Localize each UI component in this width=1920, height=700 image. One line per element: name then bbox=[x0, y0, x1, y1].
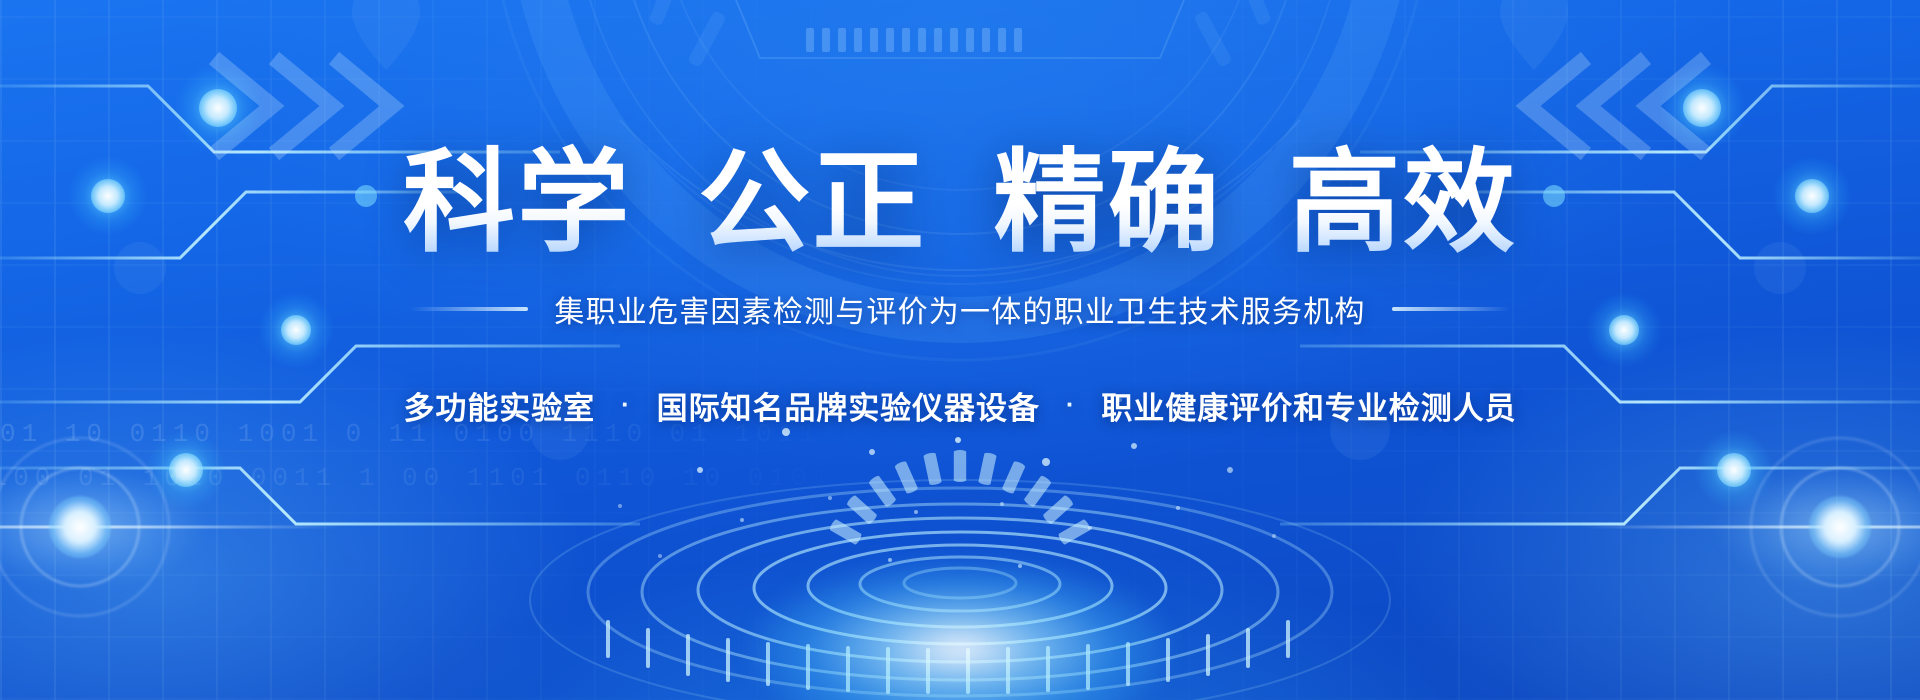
feature-tag-list: 多功能实验室 · 国际知名品牌实验仪器设备 · 职业健康评价和专业检测人员 bbox=[403, 383, 1516, 428]
page-title: 科学 公正 精确 高效 bbox=[403, 140, 1517, 265]
bullet-separator-icon: · bbox=[621, 391, 631, 417]
banner-root: 01 10 0110 1001 0 11 0100 1110 01 1011 0… bbox=[0, 0, 1920, 700]
subtitle-rule-left bbox=[410, 307, 528, 311]
feature-tag: 职业健康评价和专业检测人员 bbox=[1101, 383, 1516, 428]
subtitle-row: 集职业危害因素检测与评价为一体的职业卫生技术服务机构 bbox=[410, 287, 1509, 331]
banner-subtitle: 集职业危害因素检测与评价为一体的职业卫生技术服务机构 bbox=[554, 287, 1365, 331]
feature-tag: 国际知名品牌实验仪器设备 bbox=[657, 383, 1040, 428]
feature-tag: 多功能实验室 bbox=[403, 383, 595, 428]
bullet-separator-icon: · bbox=[1066, 391, 1076, 417]
banner-content: 科学 公正 精确 高效 集职业危害因素检测与评价为一体的职业卫生技术服务机构 多… bbox=[0, 0, 1920, 700]
subtitle-rule-right bbox=[1392, 307, 1510, 311]
